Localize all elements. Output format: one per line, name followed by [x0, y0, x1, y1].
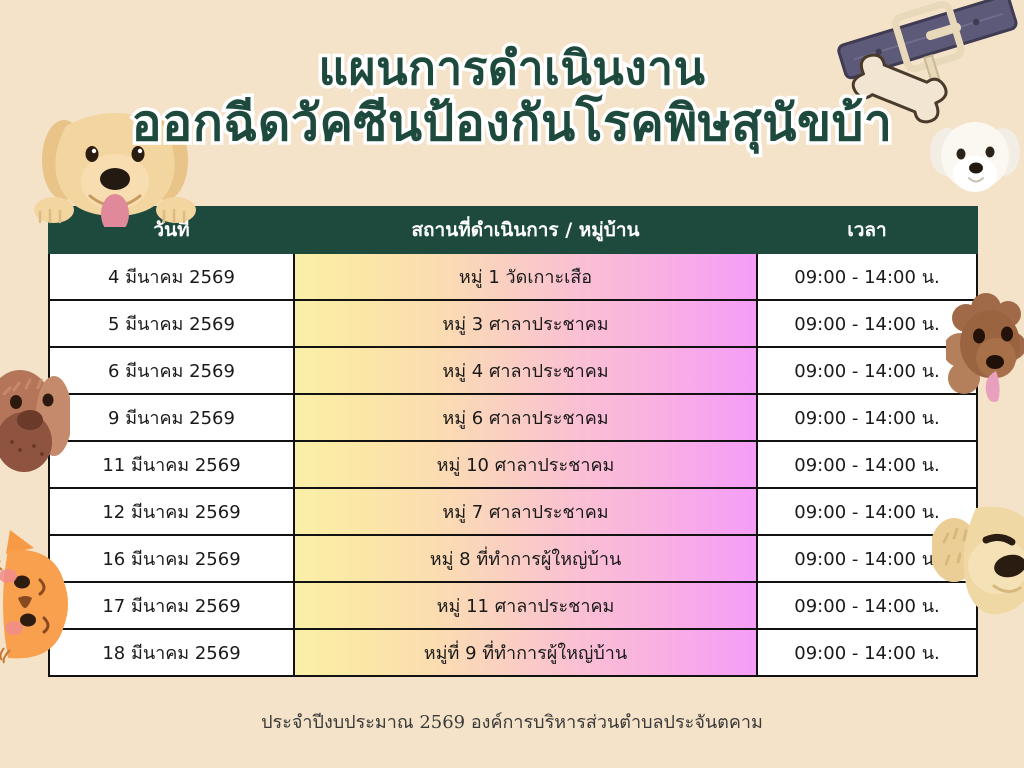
table-header: วันที่ สถานที่ดำเนินการ / หมู่บ้าน เวลา — [49, 207, 977, 253]
cell-date: 6 มีนาคม 2569 — [49, 347, 294, 394]
column-header-place: สถานที่ดำเนินการ / หมู่บ้าน — [294, 207, 757, 253]
cell-date: 17 มีนาคม 2569 — [49, 582, 294, 629]
cell-time: 09:00 - 14:00 น. — [757, 582, 977, 629]
cell-place: หมู่ที่ 9 ที่ทำการผู้ใหญ่บ้าน — [294, 629, 757, 676]
table-row: 17 มีนาคม 2569หมู่ 11 ศาลาประชาคม09:00 -… — [49, 582, 977, 629]
title-line-1: แผนการดำเนินงาน — [0, 44, 1024, 93]
table-body: 4 มีนาคม 2569หมู่ 1 วัดเกาะเสือ09:00 - 1… — [49, 253, 977, 676]
cell-time: 09:00 - 14:00 น. — [757, 347, 977, 394]
table-row: 5 มีนาคม 2569หมู่ 3 ศาลาประชาคม09:00 - 1… — [49, 300, 977, 347]
cell-place: หมู่ 7 ศาลาประชาคม — [294, 488, 757, 535]
cell-time: 09:00 - 14:00 น. — [757, 394, 977, 441]
cell-date: 5 มีนาคม 2569 — [49, 300, 294, 347]
cell-place: หมู่ 4 ศาลาประชาคม — [294, 347, 757, 394]
cell-place: หมู่ 6 ศาลาประชาคม — [294, 394, 757, 441]
cell-place: หมู่ 8 ที่ทำการผู้ใหญ่บ้าน — [294, 535, 757, 582]
cell-time: 09:00 - 14:00 น. — [757, 253, 977, 300]
cell-date: 4 มีนาคม 2569 — [49, 253, 294, 300]
cell-place: หมู่ 10 ศาลาประชาคม — [294, 441, 757, 488]
poster-canvas: แผนการดำเนินงาน ออกฉีดวัคซีนป้องกันโรคพิ… — [0, 0, 1024, 768]
table-row: 18 มีนาคม 2569หมู่ที่ 9 ที่ทำการผู้ใหญ่บ… — [49, 629, 977, 676]
schedule-table: วันที่ สถานที่ดำเนินการ / หมู่บ้าน เวลา … — [48, 206, 978, 677]
cell-date: 16 มีนาคม 2569 — [49, 535, 294, 582]
cell-date: 18 มีนาคม 2569 — [49, 629, 294, 676]
schedule-table-container: วันที่ สถานที่ดำเนินการ / หมู่บ้าน เวลา … — [48, 206, 976, 677]
table-row: 4 มีนาคม 2569หมู่ 1 วัดเกาะเสือ09:00 - 1… — [49, 253, 977, 300]
cell-time: 09:00 - 14:00 น. — [757, 441, 977, 488]
poster-title: แผนการดำเนินงาน ออกฉีดวัคซีนป้องกันโรคพิ… — [0, 44, 1024, 150]
cell-place: หมู่ 11 ศาลาประชาคม — [294, 582, 757, 629]
title-line-2: ออกฉีดวัคซีนป้องกันโรคพิษสุนัขบ้า — [0, 97, 1024, 150]
cell-place: หมู่ 3 ศาลาประชาคม — [294, 300, 757, 347]
table-header-row: วันที่ สถานที่ดำเนินการ / หมู่บ้าน เวลา — [49, 207, 977, 253]
cell-time: 09:00 - 14:00 น. — [757, 629, 977, 676]
table-row: 11 มีนาคม 2569หมู่ 10 ศาลาประชาคม09:00 -… — [49, 441, 977, 488]
cell-time: 09:00 - 14:00 น. — [757, 488, 977, 535]
cell-time: 09:00 - 14:00 น. — [757, 300, 977, 347]
cell-date: 12 มีนาคม 2569 — [49, 488, 294, 535]
column-header-time: เวลา — [757, 207, 977, 253]
table-row: 6 มีนาคม 2569หมู่ 4 ศาลาประชาคม09:00 - 1… — [49, 347, 977, 394]
dog-collar-illustration — [834, 0, 1024, 129]
cell-time: 09:00 - 14:00 น. — [757, 535, 977, 582]
column-header-date: วันที่ — [49, 207, 294, 253]
table-row: 9 มีนาคม 2569หมู่ 6 ศาลาประชาคม09:00 - 1… — [49, 394, 977, 441]
white-dog-illustration — [927, 104, 1022, 209]
cell-date: 9 มีนาคม 2569 — [49, 394, 294, 441]
table-row: 12 มีนาคม 2569หมู่ 7 ศาลาประชาคม09:00 - … — [49, 488, 977, 535]
table-row: 16 มีนาคม 2569หมู่ 8 ที่ทำการผู้ใหญ่บ้าน… — [49, 535, 977, 582]
footer-note: ประจำปีงบประมาณ 2569 องค์การบริหารส่วนตำ… — [0, 707, 1024, 736]
cell-date: 11 มีนาคม 2569 — [49, 441, 294, 488]
cell-place: หมู่ 1 วัดเกาะเสือ — [294, 253, 757, 300]
